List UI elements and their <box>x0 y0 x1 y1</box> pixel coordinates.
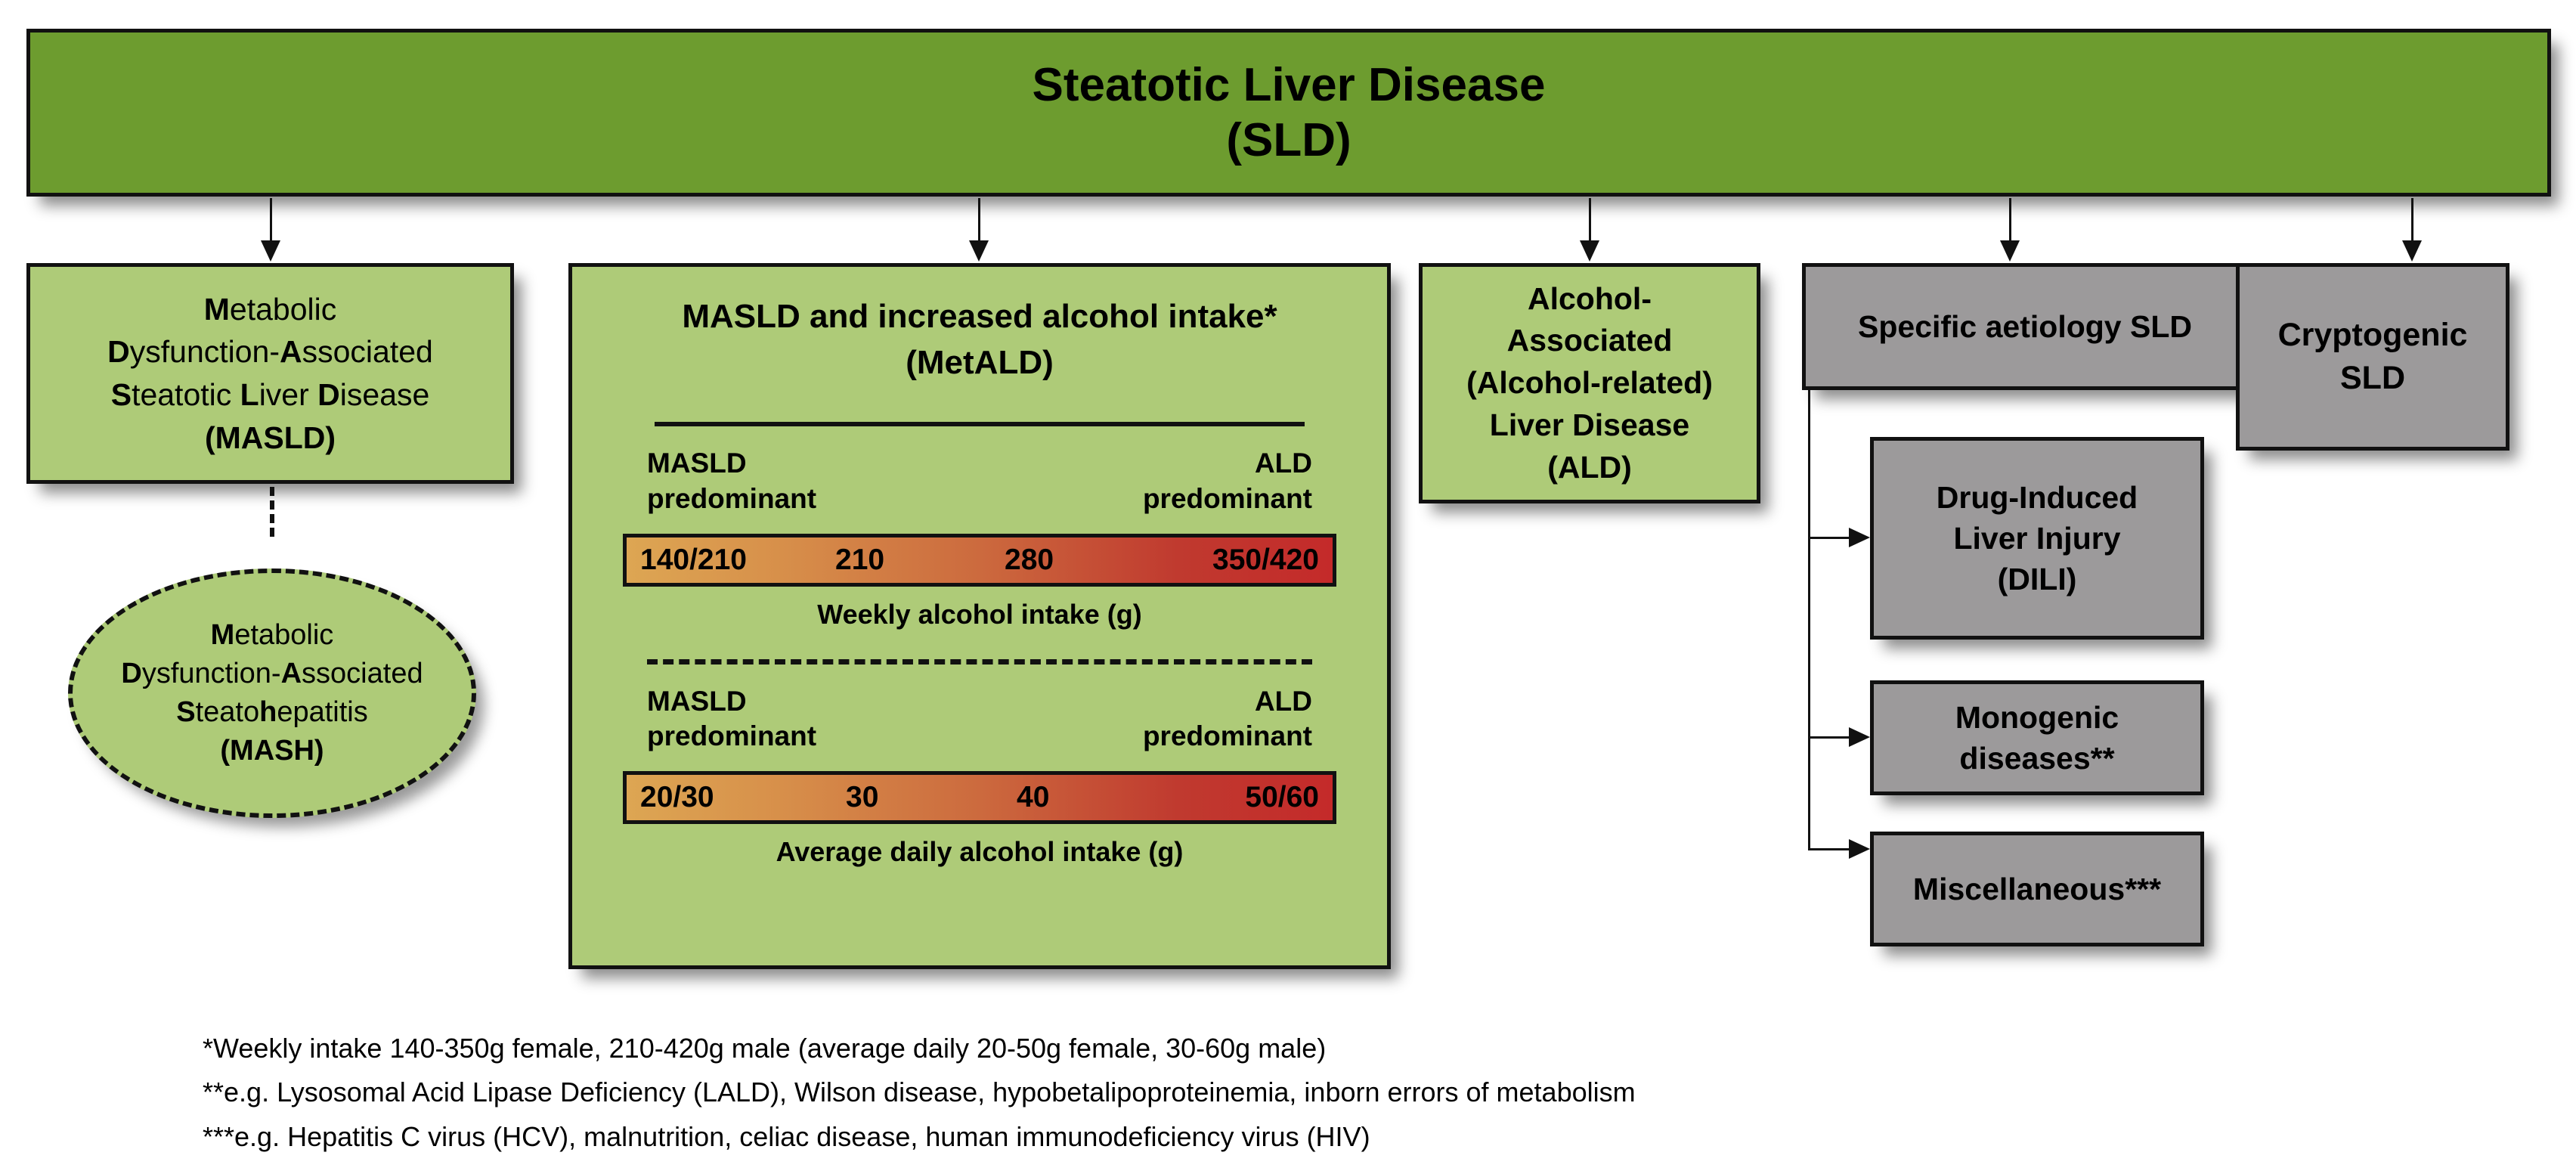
mash-ellipse: Metabolic Dysfunction-Associated Steatoh… <box>68 568 476 818</box>
metald-title-line2: (MetALD) <box>682 340 1277 386</box>
metald-box: MASLD and increased alcohol intake* (Met… <box>568 263 1391 969</box>
weekly-predominance-labels: MASLD predominant ALD predominant <box>647 446 1312 516</box>
arrow-to-monogenic <box>1849 727 1870 747</box>
footnote-double-asterisk: **e.g. Lysosomal Acid Lipase Deficiency … <box>203 1070 2243 1114</box>
masld-box: Metabolic Dysfunction-Associated Steatot… <box>26 263 514 484</box>
cryptogenic-line-2: SLD <box>2340 357 2405 400</box>
daily-predominance-labels: MASLD predominant ALD predominant <box>647 684 1312 754</box>
header-title-line1: Steatotic Liver Disease <box>1033 57 1546 113</box>
mash-line-2: Dysfunction-Associated <box>121 655 423 693</box>
mash-line-3: Steatohepatitis <box>176 693 368 732</box>
mash-line-1: Metabolic <box>211 616 334 655</box>
arrow-to-ald <box>1580 240 1599 262</box>
daily-ald-predominant-label: ALD predominant <box>1143 684 1312 754</box>
masld-line-2: Dysfunction-Associated <box>107 330 433 373</box>
cryptogenic-line-1: Cryptogenic <box>2278 314 2468 357</box>
ald-line-4: Liver Disease <box>1490 404 1689 447</box>
metald-title-line1: MASLD and increased alcohol intake* <box>682 294 1277 340</box>
weekly-value-3: 350/420 <box>1212 544 1319 577</box>
daily-value-3: 50/60 <box>1245 781 1319 814</box>
arrow-to-dili <box>1849 528 1870 547</box>
daily-value-0: 20/30 <box>640 781 714 814</box>
dili-box: Drug-Induced Liver Injury (DILI) <box>1870 437 2204 640</box>
connector-branch-to-monogenic <box>1808 736 1852 739</box>
weekly-value-0: 140/210 <box>640 544 747 577</box>
weekly-ald-predominant-label: ALD predominant <box>1143 446 1312 516</box>
header-title-line2: (SLD) <box>1226 113 1351 168</box>
connector-trunk-specific-aetiology <box>1808 390 1810 850</box>
footnotes: *Weekly intake 140-350g female, 210-420g… <box>203 1027 2243 1159</box>
ald-box: Alcohol- Associated (Alcohol-related) Li… <box>1419 263 1760 503</box>
dili-acronym: (DILI) <box>1998 559 2077 599</box>
arrow-to-miscellaneous <box>1849 839 1870 859</box>
ald-line-3: (Alcohol-related) <box>1466 362 1713 404</box>
footnote-single-asterisk: *Weekly intake 140-350g female, 210-420g… <box>203 1027 2243 1070</box>
cryptogenic-sld-box: Cryptogenic SLD <box>2236 263 2509 451</box>
diagram-canvas: Steatotic Liver Disease (SLD) Metabolic … <box>0 0 2576 1171</box>
metald-dashed-divider <box>647 659 1312 664</box>
ald-line-1: Alcohol- <box>1528 278 1652 321</box>
metald-solid-divider <box>655 422 1305 426</box>
weekly-masld-predominant-label: MASLD predominant <box>647 446 816 516</box>
daily-bar-caption: Average daily alcohol intake (g) <box>776 836 1184 868</box>
weekly-bar-caption: Weekly alcohol intake (g) <box>817 599 1141 630</box>
weekly-value-2: 280 <box>1005 544 1054 577</box>
connector-branch-to-miscellaneous <box>1808 848 1852 850</box>
masld-line-1: Metabolic <box>204 288 336 331</box>
specific-aetiology-sld-box: Specific aetiology SLD <box>1802 263 2248 390</box>
dili-line-2: Liver Injury <box>1953 518 2120 559</box>
arrow-to-masld <box>261 240 280 262</box>
dashed-connector-masld-to-mash <box>270 487 274 537</box>
arrow-to-cryptogenic <box>2402 240 2422 262</box>
ald-line-2: Associated <box>1507 320 1673 362</box>
daily-value-2: 40 <box>1017 781 1049 814</box>
weekly-alcohol-gradient-bar: 140/210 210 280 350/420 <box>623 534 1336 587</box>
arrow-to-specific-aetiology <box>2000 240 2020 262</box>
sld-header-box: Steatotic Liver Disease (SLD) <box>26 29 2551 197</box>
weekly-value-1: 210 <box>835 544 884 577</box>
ald-acronym: (ALD) <box>1547 447 1632 489</box>
connector-branch-to-dili <box>1808 537 1852 539</box>
arrow-to-metald <box>969 240 989 262</box>
specific-aetiology-label: Specific aetiology SLD <box>1858 309 2192 345</box>
miscellaneous-box: Miscellaneous*** <box>1870 832 2204 946</box>
masld-acronym: (MASLD) <box>205 417 336 460</box>
miscellaneous-label: Miscellaneous*** <box>1913 869 2161 909</box>
dili-line-1: Drug-Induced <box>1937 477 2138 518</box>
metald-title: MASLD and increased alcohol intake* (Met… <box>682 294 1277 386</box>
monogenic-line-1: Monogenic <box>1955 697 2119 738</box>
footnote-triple-asterisk: ***e.g. Hepatitis C virus (HCV), malnutr… <box>203 1115 2243 1159</box>
mash-acronym: (MASH) <box>220 732 324 770</box>
daily-value-1: 30 <box>846 781 878 814</box>
daily-alcohol-gradient-bar: 20/30 30 40 50/60 <box>623 771 1336 824</box>
monogenic-diseases-box: Monogenic diseases** <box>1870 680 2204 795</box>
daily-masld-predominant-label: MASLD predominant <box>647 684 816 754</box>
masld-line-3: Steatotic Liver Disease <box>111 373 430 417</box>
monogenic-line-2: diseases** <box>1959 738 2114 779</box>
